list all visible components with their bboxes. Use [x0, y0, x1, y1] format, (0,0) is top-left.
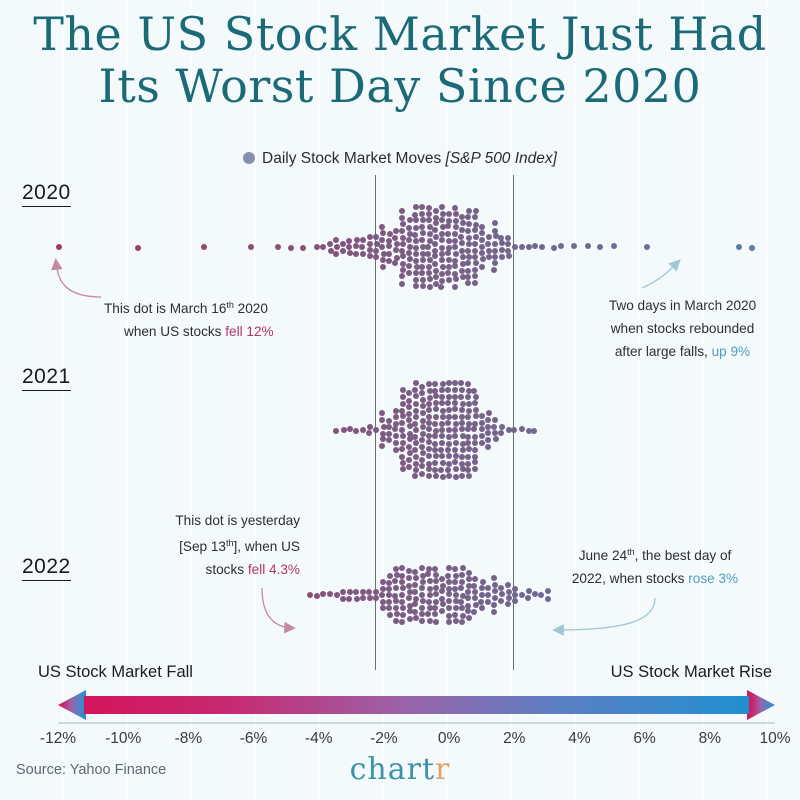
- swarm-dot: [519, 426, 525, 432]
- swarm-dot: [465, 280, 471, 286]
- swarm-dot: [392, 235, 398, 241]
- swarm-dot: [499, 591, 505, 597]
- swarm-dot: [439, 271, 445, 277]
- swarm-dot: [472, 280, 478, 286]
- swarm-dot: [400, 387, 406, 393]
- swarm-dot: [433, 591, 439, 597]
- swarm-dot: [427, 618, 433, 624]
- swarm-dot: [485, 585, 491, 591]
- swarm-dot: [445, 447, 451, 453]
- swarm-dot: [366, 589, 372, 595]
- swarm-dot: [452, 579, 458, 585]
- swarm-dot: [446, 473, 452, 479]
- swarm-dot: [400, 221, 406, 227]
- swarm-dot: [473, 260, 479, 266]
- swarm-dot: [452, 380, 458, 386]
- swarm-dot: [458, 394, 464, 400]
- swarm-dot: [399, 573, 405, 579]
- swarm-dot: [459, 605, 465, 611]
- swarm-dot: [492, 241, 498, 247]
- swarm-dot: [512, 586, 518, 592]
- swarm-dot: [453, 453, 459, 459]
- swarm-dot: [367, 595, 373, 601]
- swarm-dot: [749, 245, 755, 251]
- swarm-dot: [400, 241, 406, 247]
- swarm-dot: [333, 237, 339, 243]
- swarm-dot: [393, 598, 399, 604]
- swarm-dot: [380, 264, 386, 270]
- swarm-dot: [491, 424, 497, 430]
- swarm-dot: [736, 244, 742, 250]
- annotation-june24: June 24th, the best day of 2022, when st…: [540, 541, 770, 590]
- swarm-dot: [486, 248, 492, 254]
- swarm-dot: [379, 410, 385, 416]
- swarm-dot: [433, 220, 439, 226]
- tick-2pct: 2%: [503, 730, 525, 748]
- swarm-dot: [353, 428, 359, 434]
- swarm-dot: [459, 619, 465, 625]
- swarm-dot: [446, 565, 452, 571]
- swarm-dot: [426, 439, 432, 445]
- swarm-dot: [452, 586, 458, 592]
- swarm-dot: [432, 441, 438, 447]
- swarm-dot: [440, 211, 446, 217]
- swarm-dot: [353, 251, 359, 257]
- swarm-dot: [379, 244, 385, 250]
- swarm-dot: [452, 205, 458, 211]
- swarm-dot: [439, 433, 445, 439]
- swarm-dot: [479, 264, 485, 270]
- swarm-dot: [406, 595, 412, 601]
- anno-rb-l3b: up 9%: [712, 344, 751, 359]
- swarm-dot: [346, 596, 352, 602]
- swarm-dot: [485, 592, 491, 598]
- swarm-dot: [445, 270, 451, 276]
- swarm-dot: [480, 579, 486, 585]
- swarm-dot: [346, 238, 352, 244]
- swarm-dot: [446, 461, 452, 467]
- swarm-dot: [485, 430, 491, 436]
- swarm-dot: [585, 243, 591, 249]
- swarm-dot: [413, 393, 419, 399]
- swarm-dot: [439, 217, 445, 223]
- swarm-dot: [471, 426, 477, 432]
- swarm-2022: [0, 515, 800, 670]
- swarm-dot: [465, 589, 471, 595]
- swarm-dot: [472, 400, 478, 406]
- swarm-dot: [465, 434, 471, 440]
- swarm-dot: [472, 595, 478, 601]
- swarm-dot: [425, 611, 431, 617]
- swarm-dot: [597, 244, 603, 250]
- swarm-dot: [486, 234, 492, 240]
- swarm-dot: [406, 263, 412, 269]
- swarm-dot: [135, 245, 141, 251]
- swarm-dot: [466, 408, 472, 414]
- swarm-dot: [432, 433, 438, 439]
- swarm-dot: [367, 241, 373, 247]
- swarm-dot: [399, 599, 405, 605]
- swarm-dot: [452, 427, 458, 433]
- swarm-dot: [471, 609, 477, 615]
- swarm-dot: [406, 411, 412, 417]
- swarm-dot: [419, 204, 425, 210]
- swarm-dot: [406, 390, 412, 396]
- swarm-dot: [466, 570, 472, 576]
- swarm-dot: [400, 401, 406, 407]
- swarm-dot: [347, 250, 353, 256]
- anno-m16-sup: th: [226, 300, 234, 310]
- swarm-dot: [439, 453, 445, 459]
- axis-direction-band: US Stock Market Fall US Stock Market Ris…: [0, 655, 800, 730]
- swarm-dot: [432, 227, 438, 233]
- swarm-dot: [439, 237, 445, 243]
- swarm-dot: [419, 585, 425, 591]
- swarm-dot: [480, 256, 486, 262]
- swarm-dot: [459, 268, 465, 274]
- swarm-dot: [373, 248, 379, 254]
- swarm-dot: [433, 578, 439, 584]
- swarm-dot: [485, 424, 491, 430]
- swarm-dot: [379, 443, 385, 449]
- swarm-dot: [432, 566, 438, 572]
- swarm-dot: [460, 254, 466, 260]
- swarm-dot: [472, 267, 478, 273]
- swarm-dot: [465, 608, 471, 614]
- swarm-dot: [452, 400, 458, 406]
- swarm-dot: [426, 420, 432, 426]
- swarm-dot: [466, 473, 472, 479]
- swarm-dot: [539, 244, 545, 250]
- swarm-dot: [380, 230, 386, 236]
- swarm-dot: [373, 427, 379, 433]
- tick-neg6pct: -6%: [240, 730, 268, 748]
- swarm-dot: [472, 440, 478, 446]
- axis-baseline: [58, 722, 775, 724]
- swarm-dot: [386, 437, 392, 443]
- beeswarm-plot: 2020 2021 2022: [0, 175, 800, 670]
- chartr-logo: chartr: [0, 752, 800, 787]
- axis-label-rise: US Stock Market Rise: [611, 663, 772, 682]
- tick-10pct: 10%: [759, 730, 790, 748]
- anno-rb-l2: when stocks rebounded: [570, 317, 795, 340]
- swarm-dot: [320, 591, 326, 597]
- anno-j24-sup: th: [627, 547, 635, 557]
- swarm-dot: [340, 241, 346, 247]
- swarm-dot: [56, 244, 62, 250]
- logo-main: chart: [350, 752, 435, 787]
- anno-yd-l2a: [Sep 13: [179, 539, 226, 554]
- swarm-dot: [432, 611, 438, 617]
- swarm-dot: [386, 599, 392, 605]
- swarm-dot: [334, 592, 340, 598]
- swarm-dot: [446, 579, 452, 585]
- swarm-dot: [445, 223, 451, 229]
- swarm-dot: [420, 410, 426, 416]
- swarm-dot: [440, 601, 446, 607]
- swarm-dot: [406, 225, 412, 231]
- swarm-dot: [465, 214, 471, 220]
- swarm-dot: [399, 208, 405, 214]
- legend-index-label: [S&P 500 Index]: [446, 150, 557, 167]
- legend-dot-icon: [243, 152, 255, 164]
- anno-rb-l3a: after large falls,: [615, 344, 712, 359]
- swarm-dot: [485, 417, 491, 423]
- swarm-dot: [479, 605, 485, 611]
- swarm-dot: [426, 473, 432, 479]
- swarm-dot: [432, 447, 438, 453]
- swarm-dot: [439, 245, 445, 251]
- swarm-dot: [347, 589, 353, 595]
- swarm-dot: [460, 220, 466, 226]
- swarm-dot: [526, 588, 532, 594]
- swarm-dot: [399, 215, 405, 221]
- swarm-dot: [472, 459, 478, 465]
- swarm-dot: [419, 471, 425, 477]
- swarm-dot: [393, 605, 399, 611]
- swarm-dot: [453, 440, 459, 446]
- swarm-dot: [498, 585, 504, 591]
- chart-legend: Daily Stock Market Moves [S&P 500 Index]: [0, 150, 800, 168]
- swarm-dot: [472, 227, 478, 233]
- swarm-dot: [479, 585, 485, 591]
- swarm-dot: [400, 394, 406, 400]
- swarm-dot: [446, 434, 452, 440]
- swarm-dot: [419, 390, 425, 396]
- swarm-dot: [406, 464, 412, 470]
- tick-neg12pct: -12%: [40, 730, 76, 748]
- swarm-dot: [340, 248, 346, 254]
- swarm-dot: [452, 433, 458, 439]
- swarm-dot: [473, 208, 479, 214]
- swarm-dot: [367, 253, 373, 259]
- swarm-dot: [465, 268, 471, 274]
- swarm-dot: [419, 264, 425, 270]
- swarm-dot: [446, 441, 452, 447]
- swarm-dot: [438, 467, 444, 473]
- swarm-dot: [453, 474, 459, 480]
- swarm-dot: [387, 573, 393, 579]
- swarm-dot: [531, 428, 537, 434]
- swarm-dot: [360, 251, 366, 257]
- swarm-dot: [571, 243, 577, 249]
- swarm-dot: [399, 427, 405, 433]
- swarm-dot: [413, 615, 419, 621]
- swarm-dot: [419, 592, 425, 598]
- swarm-dot: [445, 387, 451, 393]
- swarm-dot: [439, 394, 445, 400]
- swarm-dot: [427, 395, 433, 401]
- annotation-yesterday: This dot is yesterday [Sep 13th], when U…: [130, 509, 300, 581]
- swarm-dot: [433, 406, 439, 412]
- swarm-dot: [446, 453, 452, 459]
- swarm-dot: [426, 217, 432, 223]
- swarm-dot: [493, 436, 499, 442]
- swarm-dot: [387, 612, 393, 618]
- swarm-dot: [439, 204, 445, 210]
- swarm-dot: [420, 424, 426, 430]
- swarm-dot: [445, 467, 451, 473]
- swarm-dot: [440, 474, 446, 480]
- swarm-dot: [511, 427, 517, 433]
- swarm-dot: [341, 427, 347, 433]
- swarm-dot: [432, 460, 438, 466]
- anno-j24-l2b: rose 3%: [688, 571, 738, 586]
- swarm-dot: [420, 244, 426, 250]
- swarm-dot: [275, 244, 281, 250]
- tick-neg4pct: -4%: [305, 730, 333, 748]
- swarm-dot: [432, 421, 438, 427]
- swarm-dot: [426, 205, 432, 211]
- anno-m16-l2b: fell 12%: [225, 324, 273, 339]
- swarm-dot: [453, 224, 459, 230]
- swarm-dot: [465, 426, 471, 432]
- swarm-dot: [340, 589, 346, 595]
- swarm-dot: [433, 208, 439, 214]
- swarm-dot: [333, 251, 339, 257]
- swarm-dot: [472, 241, 478, 247]
- swarm-dot: [479, 592, 485, 598]
- swarm-dot: [399, 446, 405, 452]
- swarm-dot: [486, 254, 492, 260]
- swarm-dot: [399, 228, 405, 234]
- swarm-dot: [413, 245, 419, 251]
- swarm-dot: [359, 244, 365, 250]
- anno-m16-l1b: 2020: [234, 301, 268, 316]
- swarm-dot: [320, 244, 326, 250]
- swarm-dot: [433, 453, 439, 459]
- swarm-dot: [439, 440, 445, 446]
- annotation-rebound: Two days in March 2020 when stocks rebou…: [570, 294, 795, 363]
- logo-accent: r: [435, 752, 450, 787]
- swarm-dot: [327, 241, 333, 247]
- swarm-dot: [400, 460, 406, 466]
- page-title: The US Stock Market Just Had Its Worst D…: [0, 8, 800, 112]
- title-line-1: The US Stock Market Just Had: [33, 7, 767, 61]
- swarm-dot: [466, 241, 472, 247]
- swarm-dot: [498, 430, 504, 436]
- swarm-dot: [485, 599, 491, 605]
- swarm-dot: [433, 234, 439, 240]
- swarm-dot: [413, 575, 419, 581]
- swarm-dot: [413, 401, 419, 407]
- swarm-dot: [307, 592, 313, 598]
- swarm-dot: [465, 394, 471, 400]
- swarm-dot: [406, 444, 412, 450]
- swarm-dot: [427, 586, 433, 592]
- swarm-dot: [460, 565, 466, 571]
- swarm-dot: [288, 245, 294, 251]
- swarm-dot: [426, 599, 432, 605]
- swarm-dot: [473, 413, 479, 419]
- swarm-dot: [367, 247, 373, 253]
- swarm-dot: [492, 260, 498, 266]
- swarm-dot: [373, 254, 379, 260]
- swarm-dot: [380, 579, 386, 585]
- swarm-dot: [407, 616, 413, 622]
- swarm-dot: [465, 461, 471, 467]
- anno-j24-l2a: 2022, when stocks: [572, 571, 688, 586]
- swarm-dot: [492, 248, 498, 254]
- swarm-dot: [360, 595, 366, 601]
- swarm-dot: [427, 578, 433, 584]
- swarm-dot: [445, 420, 451, 426]
- swarm-dot: [327, 591, 333, 597]
- title-line-2: Its Worst Day Since 2020: [0, 60, 800, 112]
- swarm-dot: [519, 592, 525, 598]
- swarm-dot: [386, 258, 392, 264]
- swarm-dot: [453, 218, 459, 224]
- anno-m16-l1: This dot is March 16: [104, 301, 226, 316]
- swarm-dot: [354, 237, 360, 243]
- swarm-dot: [427, 276, 433, 282]
- swarm-dot: [492, 220, 498, 226]
- swarm-dot: [460, 613, 466, 619]
- swarm-dot: [526, 244, 532, 250]
- anno-rb-l1: Two days in March 2020: [570, 294, 795, 317]
- swarm-dot: [499, 254, 505, 260]
- swarm-dot: [419, 618, 425, 624]
- swarm-dot: [412, 582, 418, 588]
- swarm-dot: [525, 595, 531, 601]
- swarm-dot: [407, 217, 413, 223]
- swarm-dot: [399, 420, 405, 426]
- swarm-dot: [485, 444, 491, 450]
- swarm-dot: [393, 440, 399, 446]
- swarm-dot: [433, 599, 439, 605]
- anno-m16-l2a: when US stocks: [124, 324, 225, 339]
- swarm-dot: [446, 605, 452, 611]
- swarm-dot: [393, 414, 399, 420]
- swarm-dot: [413, 408, 419, 414]
- swarm-dot: [459, 387, 465, 393]
- swarm-dot: [433, 473, 439, 479]
- anno-yd-l3b: fell 4.3%: [248, 562, 300, 577]
- swarm-dot: [445, 573, 451, 579]
- swarm-dot: [512, 244, 518, 250]
- swarm-dot: [491, 267, 497, 273]
- swarm-dot: [426, 466, 432, 472]
- tick-6pct: 6%: [633, 730, 655, 748]
- swarm-dot: [538, 592, 544, 598]
- swarm-dot: [386, 251, 392, 257]
- swarm-dot: [393, 433, 399, 439]
- swarm-dot: [446, 380, 452, 386]
- swarm-dot: [420, 598, 426, 604]
- swarm-dot: [420, 579, 426, 585]
- swarm-dot: [353, 243, 359, 249]
- swarm-dot: [420, 217, 426, 223]
- swarm-dot: [406, 250, 412, 256]
- swarm-dot: [439, 278, 445, 284]
- swarm-dot: [466, 615, 472, 621]
- swarm-dot: [440, 460, 446, 466]
- swarm-dot: [512, 598, 518, 604]
- swarm-dot: [413, 238, 419, 244]
- swarm-dot: [492, 582, 498, 588]
- swarm-dot: [479, 230, 485, 236]
- swarm-dot: [406, 568, 412, 574]
- swarm-dot: [440, 264, 446, 270]
- anno-yd-l1: This dot is yesterday: [130, 509, 300, 532]
- swarm-dot: [485, 437, 491, 443]
- swarm-dot: [393, 408, 399, 414]
- swarm-dot: [471, 388, 477, 394]
- swarm-dot: [300, 245, 306, 251]
- swarm-dot: [427, 284, 433, 290]
- swarm-dot: [498, 598, 504, 604]
- swarm-dot: [506, 253, 512, 259]
